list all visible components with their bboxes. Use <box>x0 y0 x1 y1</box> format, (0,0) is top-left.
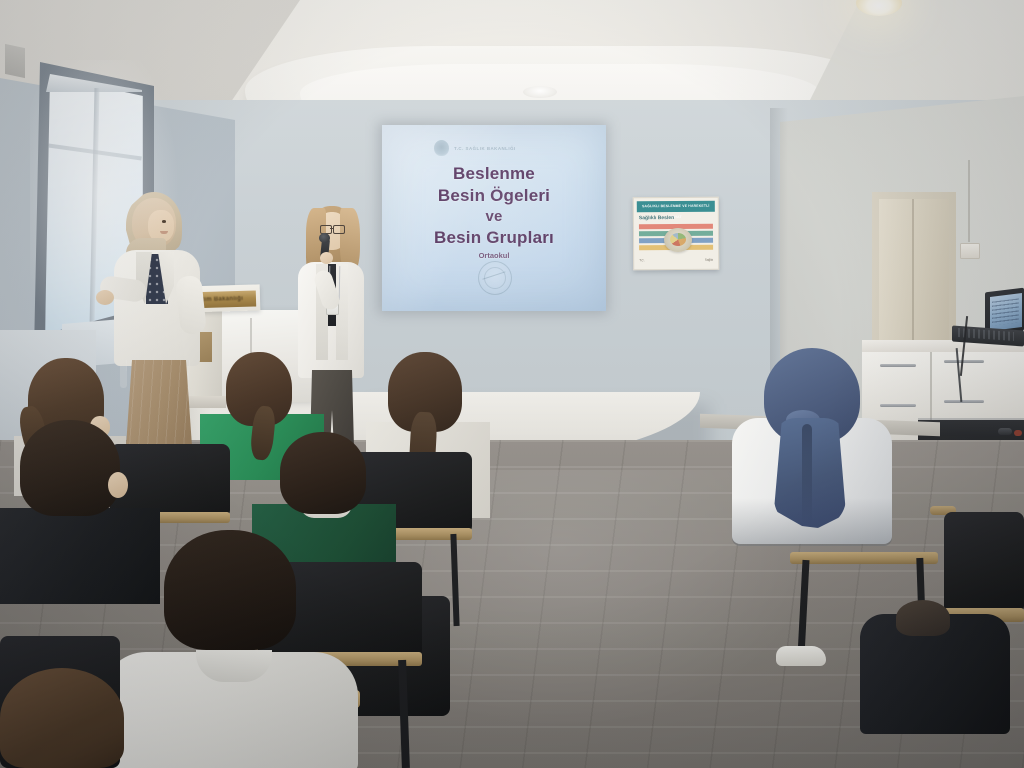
student-bottom-left <box>0 668 130 768</box>
wall-conduit <box>968 160 970 242</box>
laptop-screen-content <box>992 298 1019 325</box>
attendee-head <box>896 600 950 636</box>
poster-footer: T.C. Sağlık <box>639 256 713 265</box>
projection-screen: T.C. SAĞLIK BAKANLIĞI Beslenme Besin Öge… <box>382 125 606 311</box>
presentation-room-photo: T.C. SAĞLIK BAKANLIĞI Beslenme Besin Öge… <box>0 0 1024 768</box>
door-seam <box>912 199 914 350</box>
slide-logo-text: T.C. SAĞLIK BAKANLIĞI <box>454 145 516 152</box>
slide-title-line-2: Besin Ögeleri <box>390 185 598 207</box>
poster-footer-left: T.C. <box>639 256 644 264</box>
light-switch[interactable] <box>960 243 980 259</box>
slide-title-line-4: Besin Grupları <box>390 227 598 249</box>
ceiling-vent <box>5 44 25 78</box>
ministry-logo-icon <box>434 140 449 156</box>
wall-poster: SAĞLIKLI BESLENME VE HAREKETLİ HAYAT Sağ… <box>633 197 720 271</box>
glasses-bridge <box>330 228 334 229</box>
student-hair <box>0 668 124 768</box>
cabinet-handle[interactable] <box>944 400 984 403</box>
student-hair <box>164 530 296 650</box>
student-hair <box>20 420 120 516</box>
slide-title-block: Beslenme Besin Ögeleri ve Besin Grupları… <box>390 163 598 262</box>
console-knob[interactable] <box>998 428 1012 435</box>
presenter-eye <box>162 220 166 223</box>
poster-header-bar: SAĞLIKLI BESLENME VE HAREKETLİ HAYAT <box>637 201 715 213</box>
slide-title-line-1: Beslenme <box>390 163 598 185</box>
slide-header-logo: T.C. SAĞLIK BAKANLIĞI <box>434 137 562 159</box>
cabinet-handle[interactable] <box>944 360 984 363</box>
presenter2-hand <box>320 252 333 264</box>
attendee-hijab-fold <box>802 424 812 524</box>
console-indicator-light <box>1014 430 1022 436</box>
poster-food-wheel-icon <box>670 233 686 246</box>
glasses-icon <box>333 225 345 234</box>
presenter-hand-left <box>96 290 114 305</box>
student-hair <box>280 432 366 514</box>
attendee-dark-right <box>860 600 1024 768</box>
poster-footer-right: Sağlık <box>705 256 713 264</box>
slide-title-line-3: ve <box>390 207 598 227</box>
poster-title: Sağlıklı Beslen <box>639 215 674 221</box>
ceiling-dome-light <box>523 86 557 98</box>
presenter-arm-right <box>175 275 207 335</box>
door[interactable] <box>879 199 949 350</box>
microphone-head-icon <box>319 233 330 243</box>
chair-back[interactable] <box>944 512 1024 614</box>
attendee-shoe <box>776 646 826 666</box>
student-ear <box>108 472 128 498</box>
